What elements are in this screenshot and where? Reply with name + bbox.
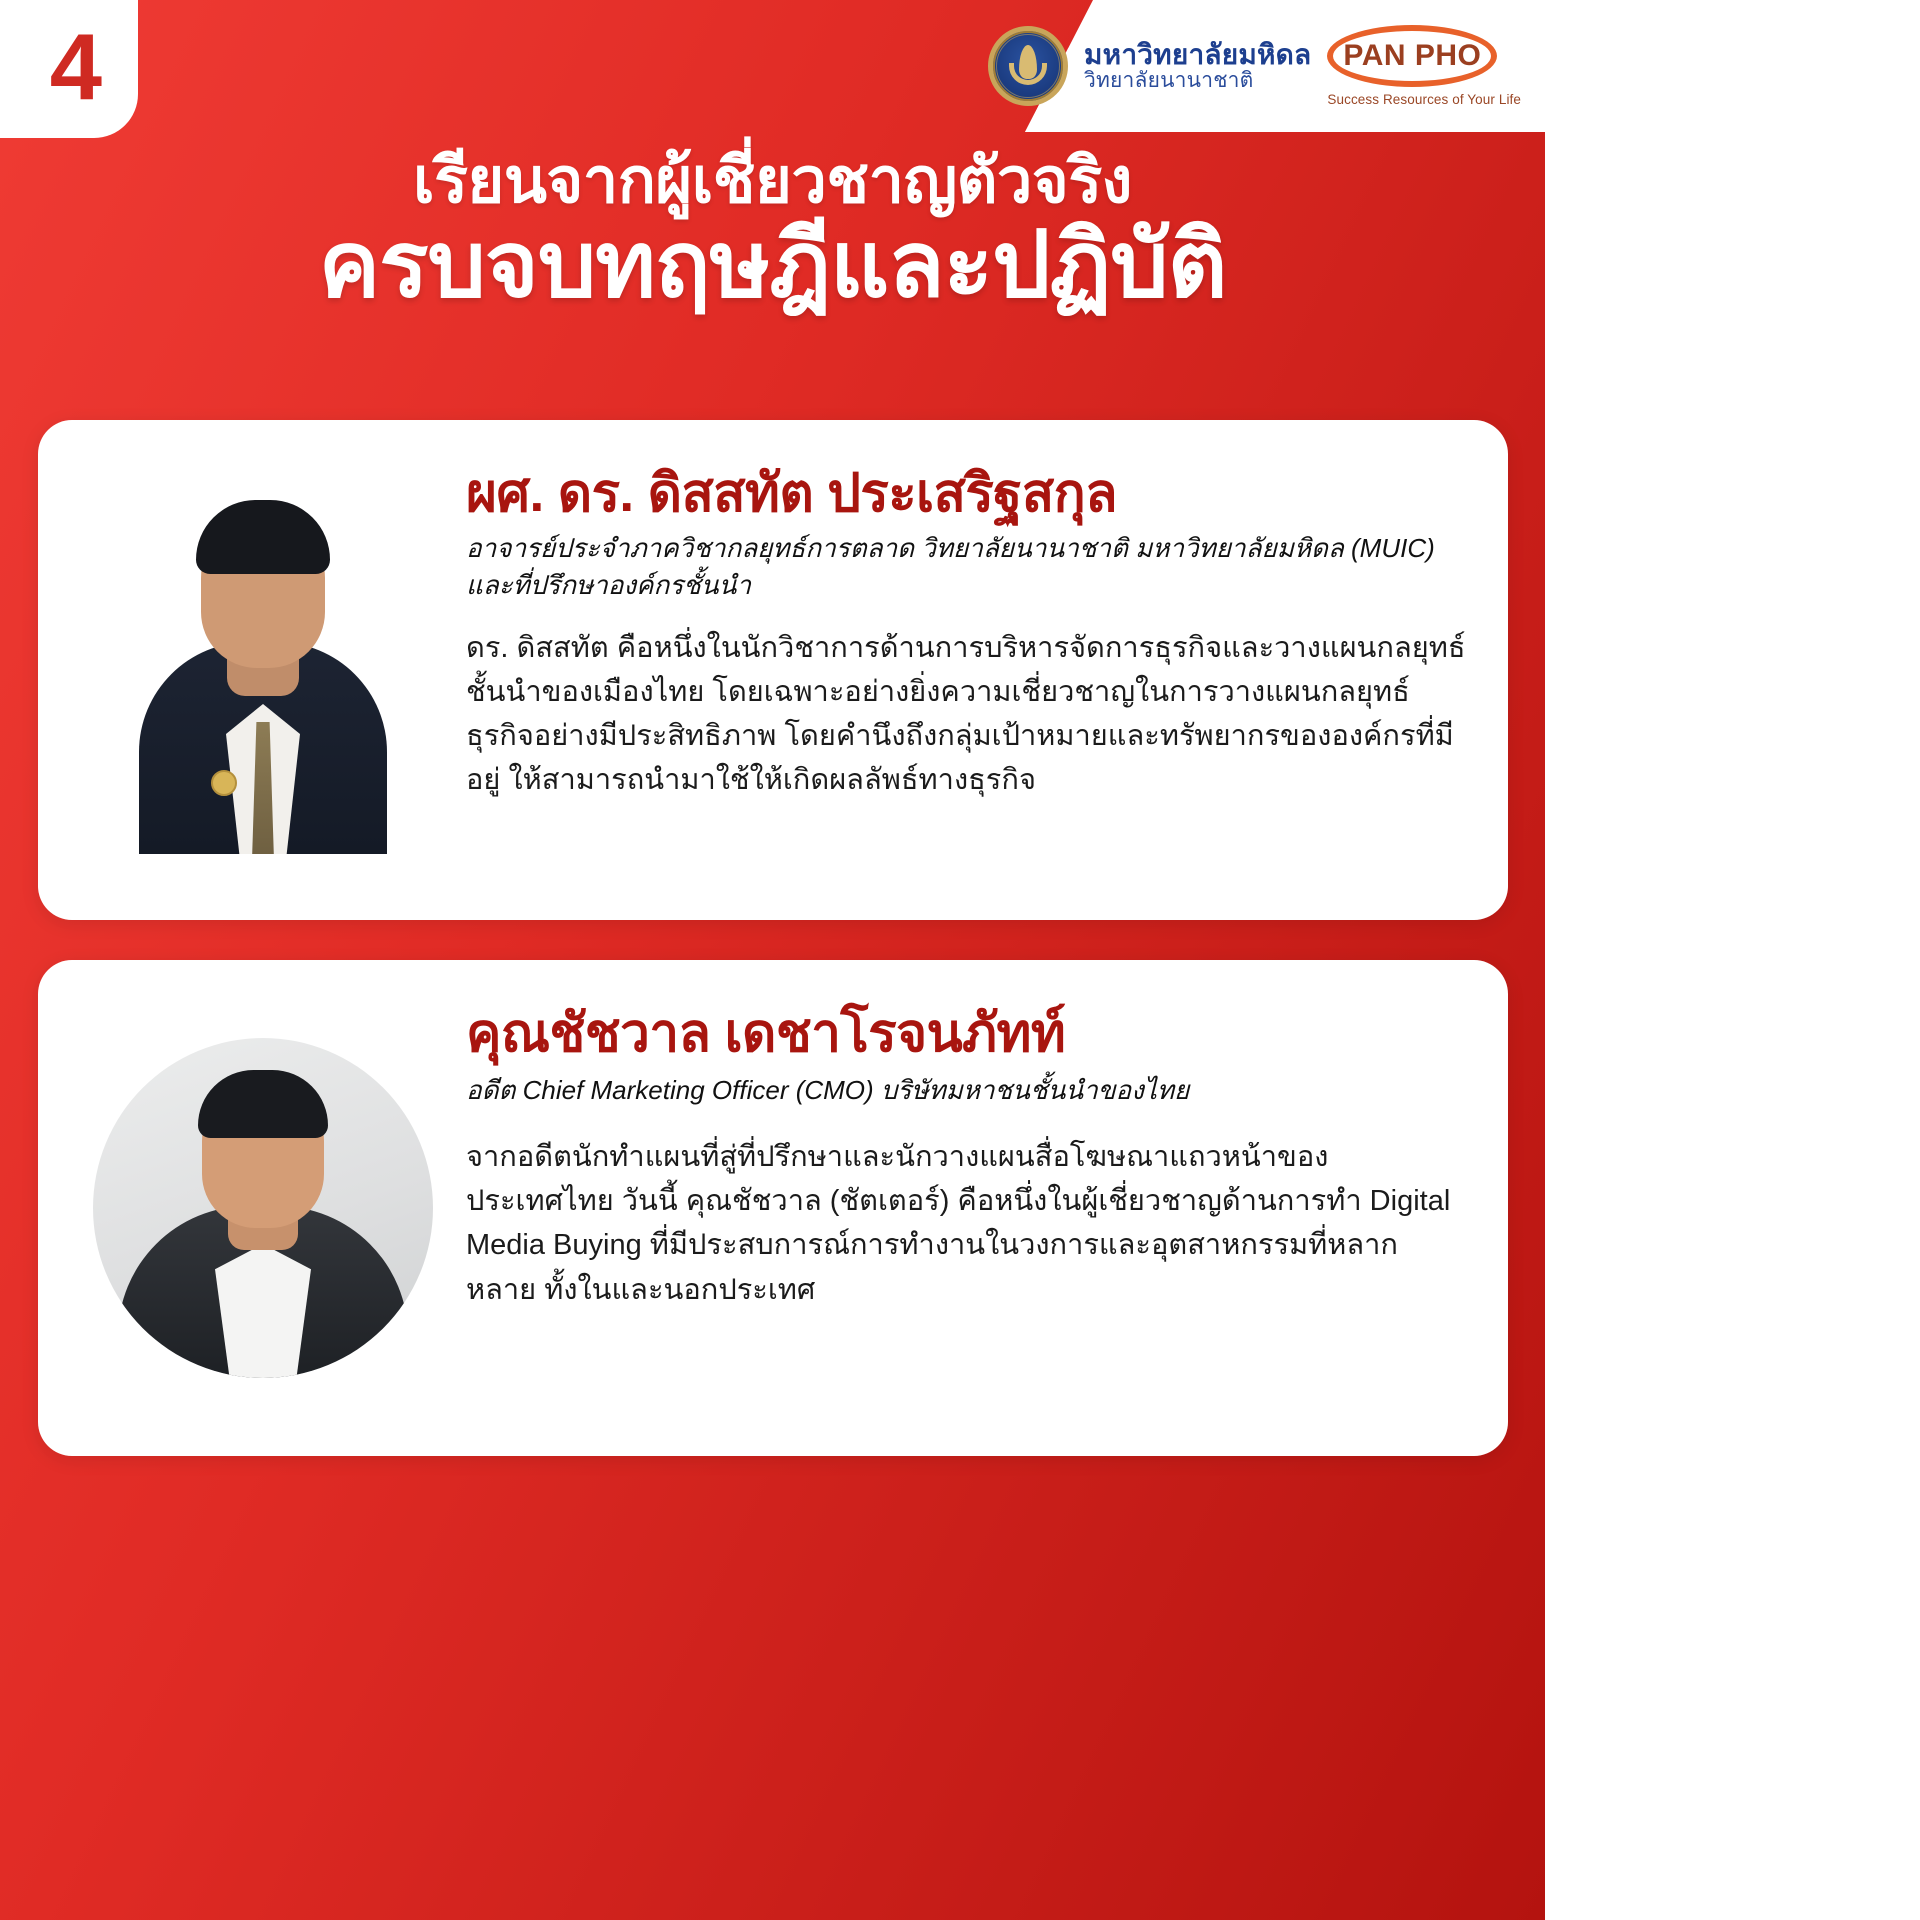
speaker-card: คุณชัชวาล เดชาโรจนภัทท์ อดีต Chief Marke… [38, 960, 1508, 1456]
speaker-portrait-photo [93, 1038, 433, 1378]
speaker-photo-wrap [78, 1038, 448, 1378]
panpho-oval-icon: PAN PHO [1327, 25, 1497, 87]
mahidol-subtitle-th: วิทยาลัยนานาชาติ [1084, 70, 1311, 92]
speaker-info: ผศ. ดร. ดิสสทัต ประเสริฐสกุล อาจารย์ประจ… [448, 454, 1468, 803]
slide-number: 4 [50, 20, 102, 114]
panpho-wordmark: PAN PHO [1343, 39, 1481, 73]
page-title: เรียนจากผู้เชี่ยวชาญตัวจริง ครบจบทฤษฎีแล… [0, 146, 1545, 317]
mahidol-name-th: มหาวิทยาลัยมหิดล [1084, 40, 1311, 70]
header-logos: มหาวิทยาลัยมหิดล วิทยาลัยนานาชาติ PAN PH… [1025, 0, 1545, 132]
speaker-role: อดีต Chief Marketing Officer (CMO) บริษั… [466, 1072, 1466, 1109]
headline-line-2: ครบจบทฤษฎีและปฏิบัติ [60, 213, 1485, 318]
speaker-name: ผศ. ดร. ดิสสทัต ประเสริฐสกุล [466, 464, 1468, 524]
slide-number-badge: 4 [0, 0, 138, 138]
panpho-tagline: Success Resources of Your Life [1327, 92, 1521, 107]
speaker-bio: จากอดีตนักทำแผนที่สู่ที่ปรึกษาและนักวางแ… [466, 1135, 1468, 1311]
speaker-bio: ดร. ดิสสทัต คือหนึ่งในนักวิชาการด้านการบ… [466, 626, 1468, 802]
mahidol-crest-icon [988, 26, 1068, 106]
panpho-logo: PAN PHO Success Resources of Your Life [1327, 25, 1521, 107]
speaker-card: ผศ. ดร. ดิสสทัต ประเสริฐสกุล อาจารย์ประจ… [38, 420, 1508, 920]
slide-root: มหาวิทยาลัยมหิดล วิทยาลัยนานาชาติ PAN PH… [0, 0, 1545, 1920]
speaker-portrait-photo [137, 486, 389, 854]
speaker-name: คุณชัชวาล เดชาโรจนภัทท์ [466, 1004, 1468, 1064]
mahidol-wordmark: มหาวิทยาลัยมหิดล วิทยาลัยนานาชาติ [1084, 40, 1311, 92]
speaker-role: อาจารย์ประจำภาควิชากลยุทธ์การตลาด วิทยาล… [466, 530, 1466, 604]
speaker-info: คุณชัชวาล เดชาโรจนภัทท์ อดีต Chief Marke… [448, 994, 1468, 1312]
speaker-photo-wrap [78, 486, 448, 854]
headline-line-1: เรียนจากผู้เชี่ยวชาญตัวจริง [60, 146, 1485, 217]
